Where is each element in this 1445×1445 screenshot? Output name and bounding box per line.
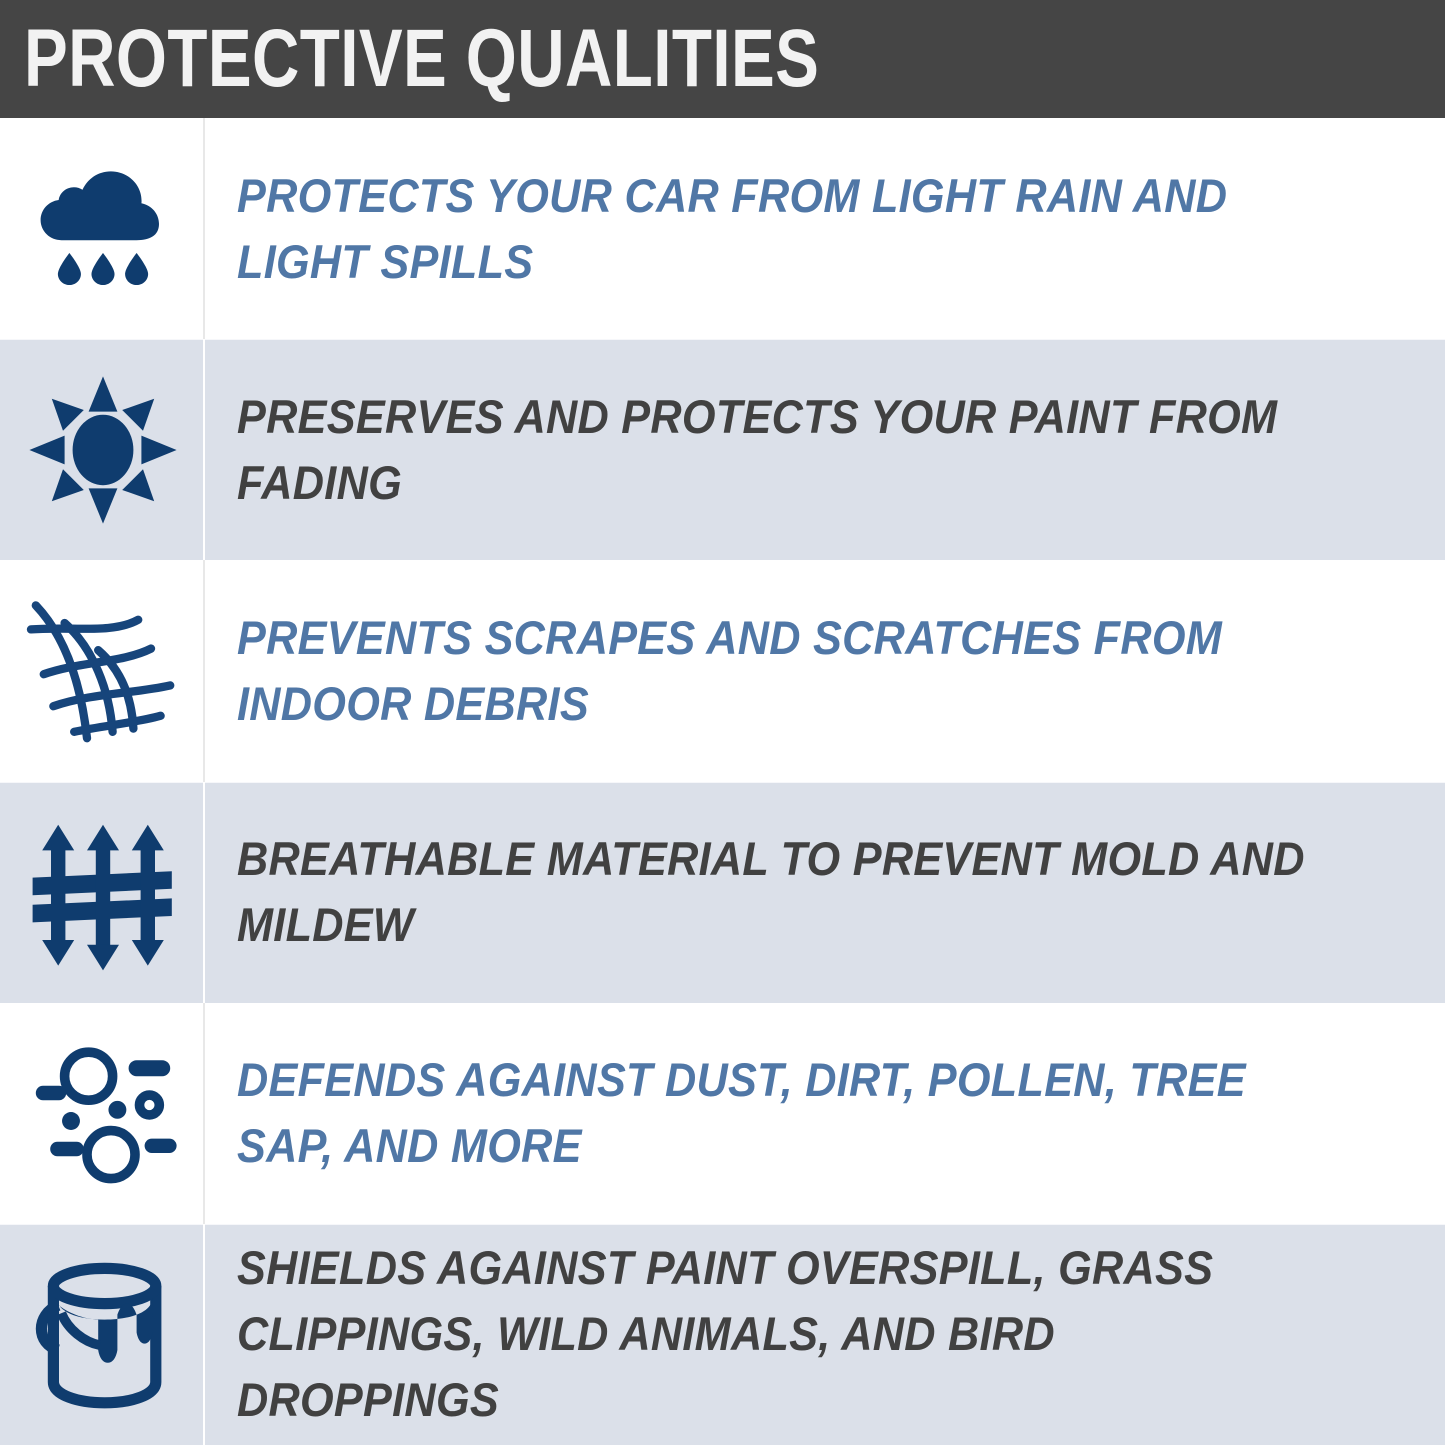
icon-cell <box>0 118 205 339</box>
dust-particles-icon <box>23 1033 183 1193</box>
text-cell: SHIELDS AGAINST PAINT OVERSPILL, GRASS C… <box>205 1224 1445 1445</box>
protective-qualities-infographic: PROTECTIVE QUALITIES PRO <box>0 0 1445 1445</box>
feature-row: PRESERVES AND PROTECTS YOUR PAINT FROM F… <box>0 339 1445 560</box>
icon-cell <box>0 339 205 560</box>
feature-row: BREATHABLE MATERIAL TO PREVENT MOLD AND … <box>0 782 1445 1003</box>
feature-row: PREVENTS SCRAPES AND SCRATCHES FROM INDO… <box>0 560 1445 781</box>
feature-text: DEFENDS AGAINST DUST, DIRT, POLLEN, TREE… <box>237 1047 1312 1179</box>
rain-cloud-icon <box>23 149 183 309</box>
paint-can-icon <box>23 1254 183 1414</box>
feature-row: PROTECTS YOUR CAR FROM LIGHT RAIN AND LI… <box>0 118 1445 339</box>
icon-cell <box>0 782 205 1003</box>
icon-cell <box>0 560 205 781</box>
sun-icon <box>23 370 183 530</box>
page-title: PROTECTIVE QUALITIES <box>0 17 819 101</box>
text-cell: DEFENDS AGAINST DUST, DIRT, POLLEN, TREE… <box>205 1003 1445 1224</box>
text-cell: BREATHABLE MATERIAL TO PREVENT MOLD AND … <box>205 782 1445 1003</box>
scratch-mesh-icon <box>23 591 183 751</box>
feature-row: DEFENDS AGAINST DUST, DIRT, POLLEN, TREE… <box>0 1003 1445 1224</box>
feature-text: PROTECTS YOUR CAR FROM LIGHT RAIN AND LI… <box>237 163 1312 295</box>
breathable-airflow-icon <box>23 812 183 972</box>
text-cell: PROTECTS YOUR CAR FROM LIGHT RAIN AND LI… <box>205 118 1445 339</box>
feature-row: SHIELDS AGAINST PAINT OVERSPILL, GRASS C… <box>0 1224 1445 1445</box>
text-cell: PRESERVES AND PROTECTS YOUR PAINT FROM F… <box>205 339 1445 560</box>
feature-text: PREVENTS SCRAPES AND SCRATCHES FROM INDO… <box>237 605 1312 737</box>
icon-cell <box>0 1003 205 1224</box>
feature-text: BREATHABLE MATERIAL TO PREVENT MOLD AND … <box>237 826 1312 958</box>
header-bar: PROTECTIVE QUALITIES <box>0 0 1445 118</box>
feature-text: SHIELDS AGAINST PAINT OVERSPILL, GRASS C… <box>237 1235 1312 1433</box>
feature-text: PRESERVES AND PROTECTS YOUR PAINT FROM F… <box>237 384 1312 516</box>
feature-list: PROTECTS YOUR CAR FROM LIGHT RAIN AND LI… <box>0 118 1445 1445</box>
text-cell: PREVENTS SCRAPES AND SCRATCHES FROM INDO… <box>205 560 1445 781</box>
icon-cell <box>0 1224 205 1445</box>
